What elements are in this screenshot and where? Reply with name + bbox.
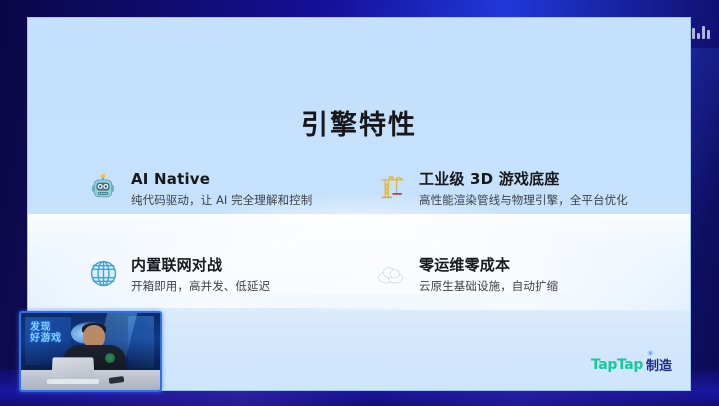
feature-item-3d-engine: 工业级 3D 游戏底座 高性能渲染管线与物理引擎，全平台优化 — [374, 168, 691, 210]
feature-list: AI Native 纯代码驱动，让 AI 完全理解和控制 — [86, 168, 691, 295]
feature-text-block: 工业级 3D 游戏底座 高性能渲染管线与物理引擎，全平台优化 — [419, 168, 628, 210]
presenter-video-overlay[interactable]: 发现好游戏 — [19, 311, 162, 392]
sparkle-icon: ✳ — [647, 350, 659, 358]
feature-text-block: 零运维零成本 云原生基础设施，自动扩缩 — [419, 254, 558, 296]
slide-title: 引擎特性 — [28, 103, 690, 142]
feature-text-block: AI Native 纯代码驱动，让 AI 完全理解和控制 — [131, 168, 312, 210]
pip-line-2: 好游戏 — [30, 333, 62, 344]
feature-title: 工业级 3D 游戏底座 — [419, 169, 628, 189]
pip-overlay-text: 发现好游戏 — [30, 323, 62, 344]
brand-secondary-label: 制造 — [646, 359, 672, 374]
feature-title: AI Native — [131, 169, 312, 189]
feature-item-networking: 内置联网对战 开箱即用，高并发、低延迟 — [86, 254, 374, 296]
taptap-brand-logo: TapTap ✳ 制造 — [591, 355, 672, 374]
feature-subtitle: 开箱即用，高并发、低延迟 — [131, 278, 270, 295]
crane-icon — [374, 171, 408, 205]
brand-secondary-text: ✳ 制造 — [646, 355, 672, 374]
feature-title: 内置联网对战 — [131, 255, 270, 275]
feature-item-zero-ops: 零运维零成本 云原生基础设施，自动扩缩 — [374, 254, 691, 296]
brand-primary-text: TapTap — [591, 357, 643, 373]
feature-subtitle: 纯代码驱动，让 AI 完全理解和控制 — [131, 192, 312, 209]
pip-line-1: 发现 — [30, 322, 51, 333]
presenter-badge — [105, 353, 115, 363]
globe-icon — [86, 257, 120, 291]
feature-text-block: 内置联网对战 开箱即用，高并发、低延迟 — [131, 254, 270, 296]
feature-subtitle: 云原生基础设施，自动扩缩 — [419, 278, 558, 295]
livestream-backdrop: TapTap发现好游戏 引擎特性 — [0, 0, 719, 406]
feature-item-ai-native: AI Native 纯代码驱动，让 AI 完全理解和控制 — [86, 168, 374, 210]
feature-subtitle: 高性能渲染管线与物理引擎，全平台优化 — [419, 192, 628, 209]
feature-title: 零运维零成本 — [419, 255, 558, 275]
cloud-icon — [374, 257, 408, 291]
laptop-icon — [51, 357, 94, 381]
laptop-base — [47, 379, 99, 384]
robot-icon — [86, 171, 120, 205]
